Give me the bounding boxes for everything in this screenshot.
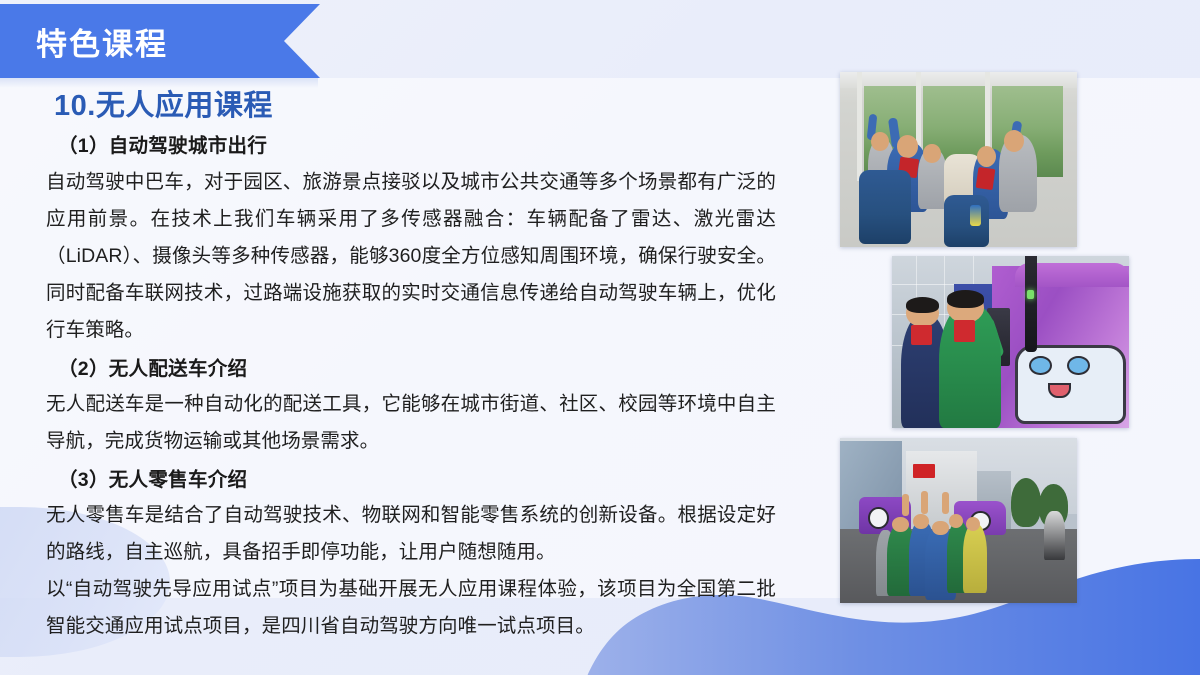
photo-bus-interior — [840, 72, 1077, 247]
paragraph-1: 自动驾驶中巴车，对于园区、旅游景点接驳以及城市公共交通等多个场景都有广泛的应用前… — [46, 164, 776, 349]
paragraph-4: 以“自动驾驶先导应用试点”项目为基础开展无人应用课程体验，该项目为全国第二批智能… — [46, 571, 776, 645]
photo-group-outdoor — [840, 438, 1077, 603]
ribbon-label: 特色课程 — [36, 19, 168, 64]
header-ribbon: 特色课程 — [0, 4, 320, 78]
subheading-3: （3）无人零售车介绍 — [58, 466, 776, 495]
ribbon-shadow — [0, 78, 318, 88]
subheading-2: （2）无人配送车介绍 — [58, 355, 776, 384]
subheading-1: （1）自动驾驶城市出行 — [58, 132, 776, 161]
page-title: 10.无人应用课程 — [54, 88, 776, 124]
photo-retail-vehicle — [892, 256, 1129, 428]
paragraph-3: 无人零售车是结合了自动驾驶技术、物联网和智能零售系统的创新设备。根据设定好的路线… — [46, 497, 776, 571]
content-column: 10.无人应用课程 （1）自动驾驶城市出行 自动驾驶中巴车，对于园区、旅游景点接… — [46, 88, 776, 645]
paragraph-2: 无人配送车是一种自动化的配送工具，它能够在城市街道、社区、校园等环境中自主导航，… — [46, 386, 776, 460]
slide-root: 特色课程 10.无人应用课程 （1）自动驾驶城市出行 自动驾驶中巴车，对于园区、… — [0, 0, 1200, 675]
